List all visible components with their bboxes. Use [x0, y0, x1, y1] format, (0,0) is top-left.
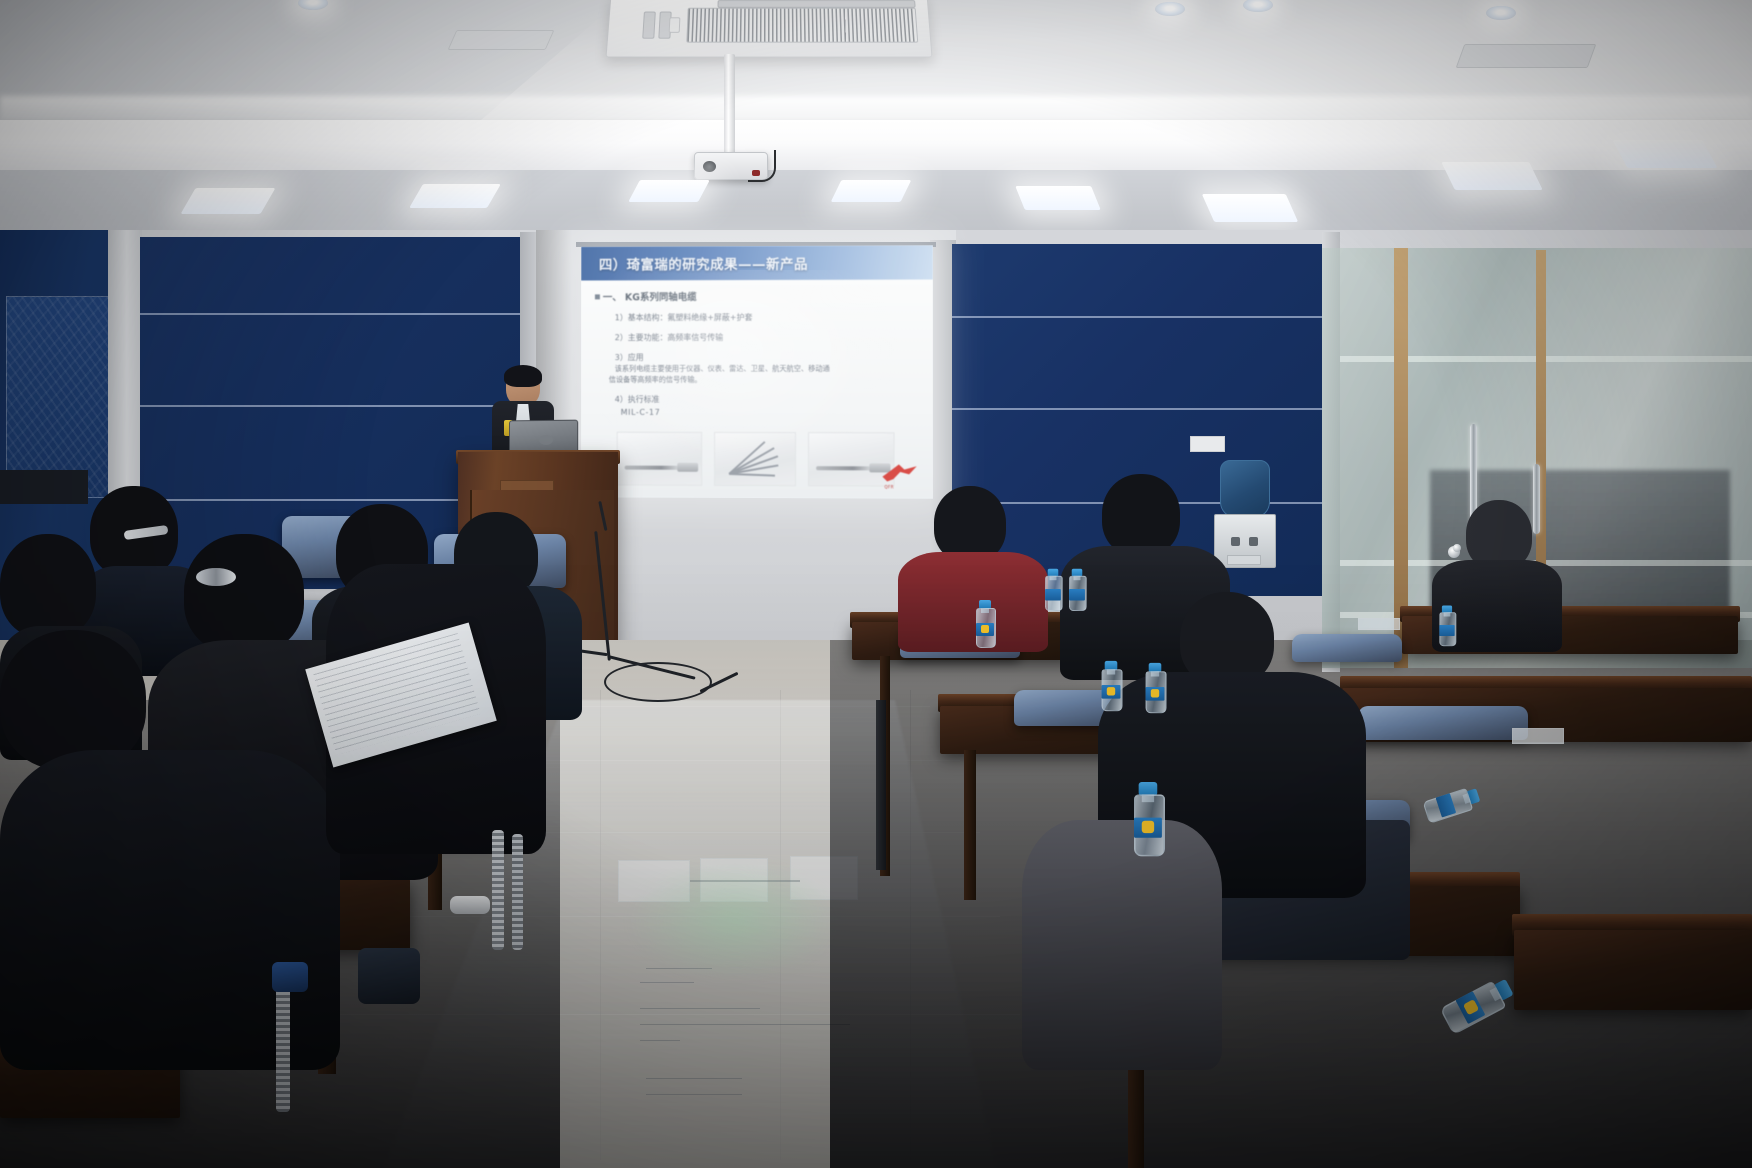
ac-sensor-icon — [669, 17, 681, 33]
panel-light-icon — [1613, 140, 1718, 168]
bag — [272, 962, 308, 992]
ceiling-vent-icon — [1456, 44, 1597, 68]
logo-text: QFR — [884, 484, 894, 489]
panel-light-icon — [1015, 186, 1101, 210]
air-conditioner-icon — [605, 0, 932, 58]
panel-light-icon — [628, 180, 710, 202]
water-bottle[interactable] — [976, 600, 994, 646]
panel-light-icon — [409, 184, 501, 208]
hair-accessory — [196, 568, 236, 586]
spot-light-icon — [1486, 6, 1516, 20]
slide-line-7: MIL-C-17 — [621, 408, 661, 417]
bottle-label — [1439, 625, 1454, 636]
person-head — [0, 534, 96, 638]
door-frame — [1394, 248, 1408, 668]
bottle-label-mark — [1151, 689, 1159, 697]
projector-indicator — [752, 170, 760, 176]
wall-nameplate — [1190, 436, 1225, 452]
fabric-wall-panel — [6, 296, 112, 498]
water-bottle[interactable] — [1134, 782, 1162, 853]
person-head — [934, 486, 1006, 562]
cable-braid-image — [729, 473, 775, 476]
desk — [1514, 930, 1752, 1010]
ac-grille — [686, 8, 918, 43]
bullet-square-icon — [595, 294, 600, 299]
water-bottle[interactable] — [1439, 605, 1454, 644]
panel-light-icon — [1202, 194, 1298, 222]
projection-screen: 四）琦富瑞的研究成果——新产品 一、 KG系列同轴电缆 1）基本结构：氟塑料绝缘… — [581, 245, 933, 498]
slide-line-5: 信设备等高频率的信号传输。 — [609, 375, 702, 385]
bottle-label-mark — [1107, 687, 1115, 695]
slide-line-6: 4）执行标准 — [615, 394, 660, 405]
desk-leg — [964, 750, 976, 900]
panel-light-icon — [1441, 162, 1543, 190]
panel-seam — [952, 408, 1327, 410]
bottle-label-mark — [1142, 821, 1154, 833]
chair — [1358, 706, 1528, 740]
shoe — [450, 896, 490, 914]
panel-light-icon — [180, 188, 275, 214]
person-torso — [898, 552, 1048, 652]
desk-leg — [876, 700, 886, 870]
slide-line-2: 2）主要功能：高频率信号传输 — [615, 332, 723, 343]
bottle-label-mark — [981, 625, 989, 633]
floor-reflection-text — [646, 1078, 742, 1079]
slide-line-1: 1）基本结构：氟塑料绝缘+屏蔽+护套 — [615, 312, 753, 323]
water-bottle[interactable] — [1045, 569, 1061, 609]
panel-seam — [952, 316, 1327, 318]
panel-seam — [140, 313, 538, 315]
water-bottle[interactable] — [1069, 569, 1085, 609]
audience-member — [1022, 790, 1222, 1070]
slide-line-3: 3）应用 — [615, 352, 644, 363]
presenter-hair — [504, 365, 542, 387]
slide-heading: 一、 KG系列同轴电缆 — [603, 289, 697, 303]
wall-dark-trim — [0, 470, 88, 504]
chair-leg — [492, 830, 504, 950]
panel-seam — [140, 405, 538, 407]
presentation-slide: 四）琦富瑞的研究成果——新产品 一、 KG系列同轴电缆 1）基本结构：氟塑料绝缘… — [581, 245, 933, 498]
ceiling-vent-icon — [448, 30, 555, 50]
ac-side-vent — [642, 12, 656, 39]
bag — [358, 948, 420, 1004]
ac-air-slot — [717, 0, 915, 8]
cable-connector-image — [678, 463, 698, 472]
water-bottle[interactable] — [1102, 661, 1121, 709]
slide-thumbnail — [714, 432, 796, 486]
floor-reflection-text — [640, 1040, 680, 1041]
person-head — [1102, 474, 1180, 556]
chair-leg — [512, 834, 523, 950]
person-lap — [1022, 820, 1222, 1070]
dispenser-drip-tray — [1227, 555, 1261, 565]
spot-light-icon — [1155, 2, 1185, 16]
laptop-logo-icon — [539, 435, 553, 445]
panel-light-icon — [831, 180, 912, 202]
projector-lens-icon — [703, 161, 716, 172]
paper-sheet — [1512, 728, 1564, 744]
conference-room-photo: 四）琦富瑞的研究成果——新产品 一、 KG系列同轴电缆 1）基本结构：氟塑料绝缘… — [0, 0, 1752, 1168]
spot-light-icon — [1243, 0, 1273, 12]
slide-thumbnail — [617, 432, 702, 486]
projector-cable — [748, 150, 776, 182]
slide-line-4: 该系列电缆主要使用于仪器、仪表、雷达、卫星、航天航空、移动通 — [615, 364, 830, 374]
dispenser-cold-tap[interactable] — [1249, 537, 1258, 546]
coiled-cable — [604, 662, 712, 702]
dispenser-hot-tap[interactable] — [1231, 537, 1240, 546]
logo-glyph — [882, 464, 916, 481]
person-head — [0, 630, 146, 770]
water-bottle[interactable] — [1146, 663, 1165, 711]
floor-reflection-glow — [630, 860, 840, 980]
slide-body: 一、 KG系列同轴电缆 1）基本结构：氟塑料绝缘+屏蔽+护套 2）主要功能：高频… — [581, 279, 933, 498]
floor-reflection-text — [640, 1008, 760, 1009]
floor-reflection-text — [646, 1094, 742, 1095]
projector-mount-pole — [724, 54, 735, 158]
audience-member — [898, 486, 1048, 646]
bottle-label — [1069, 589, 1085, 600]
floor-reflection-text — [640, 1024, 850, 1025]
paper-sheet — [1358, 618, 1400, 630]
floor-reflection-text — [640, 982, 694, 983]
company-logo-icon: QFR — [882, 464, 916, 488]
bottle-label — [1045, 589, 1061, 600]
slide-title: 四）琦富瑞的研究成果——新产品 — [599, 253, 808, 274]
